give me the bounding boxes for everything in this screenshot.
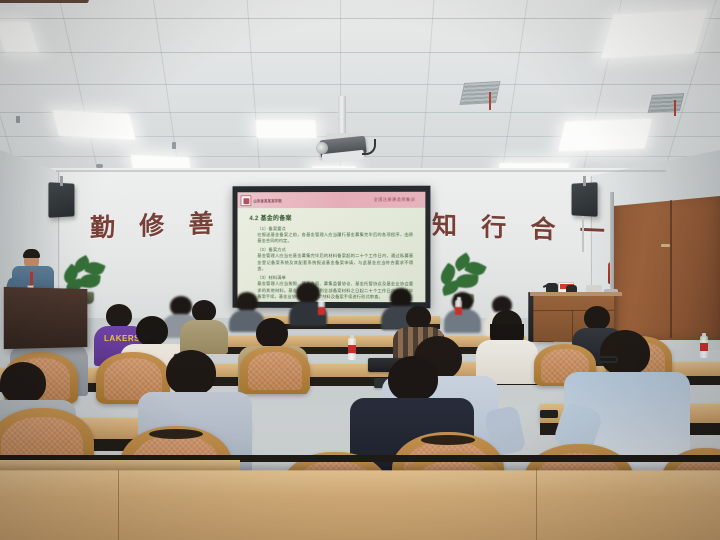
desk-panel-seam	[536, 468, 537, 540]
ceiling-panel-light	[558, 118, 652, 151]
ceiling-panel-light	[601, 10, 707, 59]
water-bottle	[348, 338, 356, 360]
water-bottle	[318, 300, 325, 315]
head	[296, 282, 320, 304]
desk-panel-seam	[118, 470, 119, 540]
institution-logo-icon	[240, 195, 251, 206]
projection-screen: 山东省某某某学院 全国注册建造师集训 4.2 基金的备案 （1）备案要点 在报送…	[237, 192, 425, 303]
head	[584, 306, 610, 330]
slide-header-band: 山东省某某某学院 全国注册建造师集训	[237, 192, 425, 208]
wall-speaker-left	[48, 182, 74, 218]
cabinet-table-top	[530, 292, 622, 296]
bottle-cap	[457, 297, 461, 301]
bottle-label	[700, 343, 708, 351]
torso	[444, 309, 481, 333]
speaker-bracket	[583, 176, 586, 186]
bottle-cap	[350, 335, 354, 339]
water-bottle	[455, 300, 462, 315]
wooden-double-door[interactable]	[614, 196, 720, 340]
head	[170, 296, 192, 316]
bottle-cap	[702, 333, 706, 337]
projector-mount-pole	[338, 96, 346, 136]
sprinkler-head	[172, 142, 176, 149]
head	[600, 330, 650, 376]
chair-upholstery	[248, 352, 303, 390]
slide-org-name: 山东省某某某学院	[253, 198, 282, 203]
bottle-label	[455, 307, 462, 315]
slide-section-body: 基金管理人应当在基金募集完毕后的材料备案起的二十个工作日内，通过私募基金登记备案…	[257, 253, 413, 273]
door-center-split	[670, 200, 672, 338]
water-bottle	[700, 336, 708, 358]
speaker-bracket	[60, 176, 63, 186]
head	[106, 304, 132, 328]
air-vent	[648, 93, 685, 113]
presenter-hair	[23, 249, 40, 258]
ceiling-grid-line-h	[0, 84, 720, 85]
chair-handle-cutout	[421, 435, 475, 445]
head	[0, 362, 46, 404]
head	[192, 300, 216, 322]
head	[236, 292, 258, 312]
speaker-cable	[582, 216, 584, 252]
ceiling-panel-light	[52, 110, 135, 140]
chair-mid-3[interactable]	[240, 346, 310, 394]
air-vent	[459, 81, 500, 105]
wall-speaker-right	[572, 182, 598, 217]
foreground-desk	[0, 470, 720, 540]
slide-section-body: 在报送基金备案之前，各基金管理人应当履行基金募集完毕后的各项程序，由原基金合同的…	[257, 232, 413, 245]
ceiling-panel-light	[255, 120, 316, 138]
head	[388, 356, 438, 402]
door-handle[interactable]	[661, 244, 670, 247]
sprinkler-head	[16, 116, 20, 123]
slide-title: 4.2 基金的备案	[249, 213, 291, 222]
head	[166, 350, 216, 396]
smartphone[interactable]	[540, 410, 558, 418]
bottle-label	[318, 307, 325, 315]
sprinkler-rod	[489, 92, 491, 110]
slide-body: （1）备案要点 在报送基金备案之前，各基金管理人应当履行基金募集完毕后的各项程序…	[257, 223, 413, 301]
bottle-cap	[320, 297, 324, 301]
bottle-label	[348, 345, 356, 353]
speaker-podium	[4, 287, 88, 349]
head	[390, 288, 412, 308]
ceiling-wall-trim	[56, 170, 666, 172]
conference-room-photo: 勤 修 善 学 知 行 合 一 山东省某某某学院 全国注册建造师集训 4.2 基…	[0, 0, 720, 540]
head	[406, 306, 431, 329]
sprinkler-rod	[674, 100, 676, 116]
presenter-lanyard	[30, 272, 33, 286]
torso	[180, 320, 228, 354]
podium-top	[0, 0, 90, 3]
slide-header-subtitle: 全国注册建造师集训	[374, 197, 416, 203]
glasses-icon	[596, 356, 618, 363]
